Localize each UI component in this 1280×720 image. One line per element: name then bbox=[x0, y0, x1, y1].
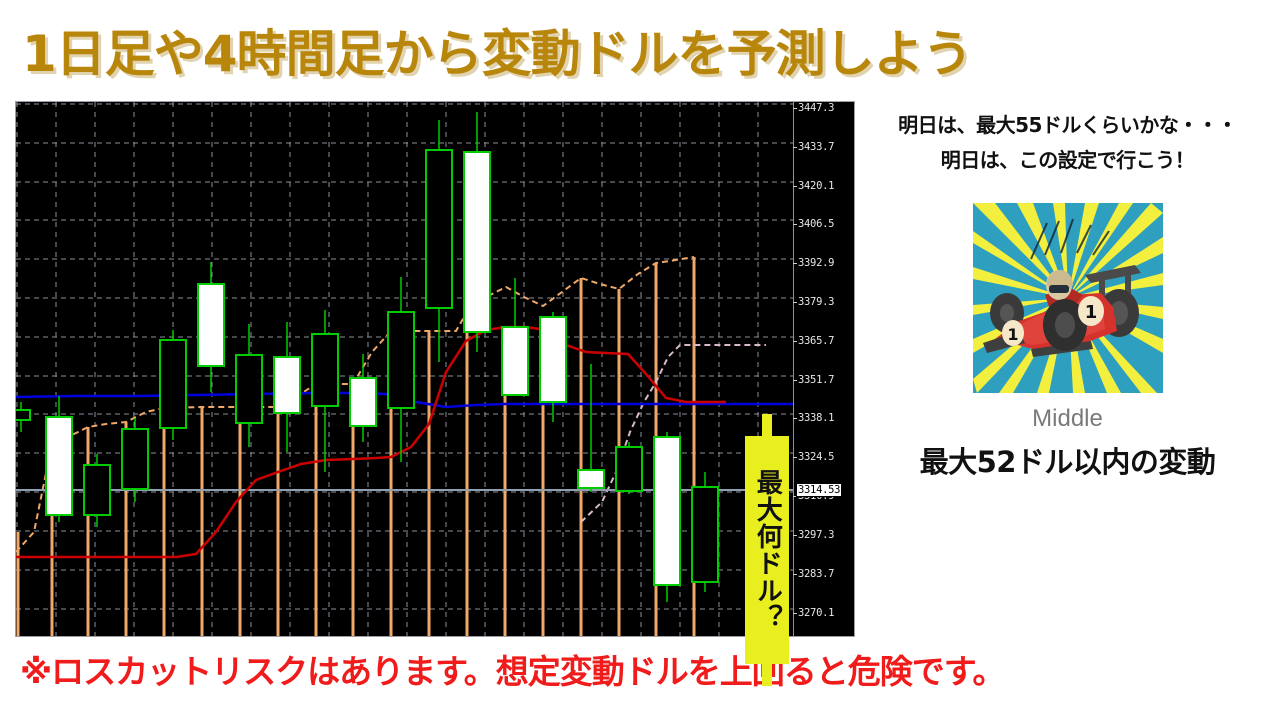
marker-body: 最大何ドル？ bbox=[745, 436, 789, 664]
price-tick: 3351.7 bbox=[798, 374, 834, 386]
chart-plot-area[interactable] bbox=[16, 102, 794, 636]
current-price-label: 3314.53 bbox=[796, 483, 842, 497]
price-tick: 3365.7 bbox=[798, 335, 834, 347]
price-tick: 3338.1 bbox=[798, 412, 834, 424]
price-chart-panel[interactable]: 最大何ドル？ 3447.3 3433.7 3420.1 3406.5 3392.… bbox=[15, 101, 855, 637]
marker-stem-bottom bbox=[762, 660, 772, 686]
title-bar: 1日足や4時間足から変動ドルを予測しよう bbox=[0, 14, 1280, 86]
price-tick: 3406.5 bbox=[798, 218, 834, 230]
candle bbox=[122, 418, 148, 502]
marker-label: 最大何ドル？ bbox=[754, 469, 781, 631]
price-tick: 3297.3 bbox=[798, 529, 834, 541]
price-tick: 3420.1 bbox=[798, 180, 834, 192]
candle bbox=[160, 330, 186, 440]
max-range-annotation-marker: 最大何ドル？ bbox=[745, 414, 789, 686]
candle bbox=[616, 442, 642, 494]
price-tick: 3324.5 bbox=[798, 451, 834, 463]
expected-range-caption: 最大52ドル以内の変動 bbox=[855, 439, 1280, 481]
page-title: 1日足や4時間足から変動ドルを予測しよう bbox=[22, 14, 972, 86]
price-tick: 3379.3 bbox=[798, 296, 834, 308]
price-tick: 3283.7 bbox=[798, 568, 834, 580]
svg-text:1: 1 bbox=[1084, 302, 1097, 323]
risk-level-label: Middle bbox=[855, 405, 1280, 433]
right-info-panel: 明日は、最大55ドルくらいかな・・・ 明日は、この設定で行こう！ bbox=[855, 101, 1280, 641]
forecast-text-line-2: 明日は、この設定で行こう！ bbox=[855, 144, 1280, 173]
forecast-text-line-1: 明日は、最大55ドルくらいかな・・・ bbox=[855, 109, 1280, 138]
price-tick: 3270.1 bbox=[798, 607, 834, 619]
price-tick: 3447.3 bbox=[798, 102, 834, 114]
risk-warning-text: ※ロスカットリスクはあります。想定変動ドルを上回ると危険です。 bbox=[20, 645, 1260, 693]
candlestick-chart-svg bbox=[16, 102, 794, 636]
candle bbox=[654, 432, 680, 602]
candle bbox=[692, 472, 718, 592]
svg-text:1: 1 bbox=[1007, 325, 1018, 344]
price-tick: 3392.9 bbox=[798, 257, 834, 269]
red-formula-one-race-car-image: 1 1 bbox=[973, 203, 1163, 393]
price-axis-scale[interactable]: 3447.3 3433.7 3420.1 3406.5 3392.9 3379.… bbox=[793, 102, 854, 636]
price-tick: 3433.7 bbox=[798, 141, 834, 153]
